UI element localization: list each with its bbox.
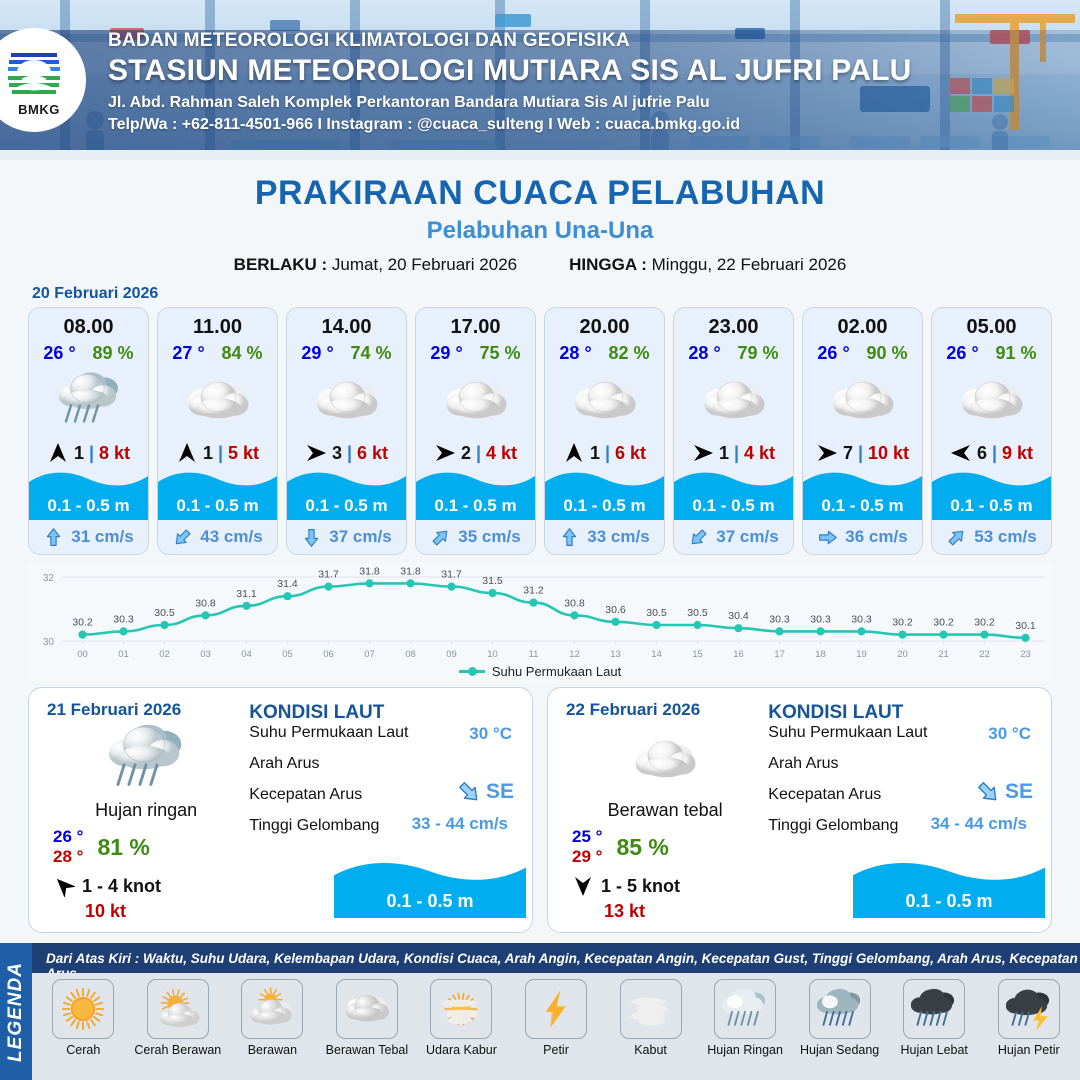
svg-text:30.1: 30.1 — [1015, 620, 1036, 632]
svg-text:30.6: 30.6 — [605, 604, 626, 616]
svg-text:03: 03 — [200, 649, 211, 660]
card-wind-row: 1|5 kt — [158, 438, 277, 468]
svg-text:30.3: 30.3 — [769, 613, 790, 625]
svg-text:31.8: 31.8 — [400, 565, 421, 577]
card-weather-icon — [287, 364, 406, 438]
card-temperature: 26 ° — [43, 343, 75, 364]
daily-temp-humidity: 26 °28 °81 % — [47, 827, 245, 867]
sst-label: Suhu Permukaan Laut — [768, 724, 927, 741]
legend-item: Cerah — [36, 979, 131, 1057]
card-wind-row: 1|6 kt — [545, 438, 664, 468]
card-wave-block: 0.1 - 0.5 m — [287, 468, 406, 520]
card-weather-icon — [674, 364, 793, 438]
chart-legend-label: Suhu Permukaan Laut — [492, 664, 621, 679]
svg-text:31.1: 31.1 — [236, 588, 257, 600]
daily-condition: Berawan tebal — [566, 800, 764, 821]
legend-item-icon-box — [336, 979, 398, 1039]
card-wave-block: 0.1 - 0.5 m — [674, 468, 793, 520]
daily-wind-range: 1 - 5 knot — [601, 876, 680, 897]
legend-body: Dari Atas Kiri : Waktu, Suhu Udara, Kele… — [32, 943, 1080, 1080]
svg-text:05: 05 — [282, 649, 293, 660]
lightning-icon — [533, 986, 579, 1032]
cloud-icon — [960, 378, 1024, 424]
svg-text:31.4: 31.4 — [277, 578, 298, 590]
svg-text:30.3: 30.3 — [810, 613, 831, 625]
card-separator: | — [858, 443, 863, 464]
svg-text:30.2: 30.2 — [892, 617, 913, 629]
legend-item-icon-box — [52, 979, 114, 1039]
hourly-forecast-row: 08.0026 °89 %1|8 kt0.1 - 0.5 m31 cm/s11.… — [0, 307, 1080, 555]
card-wave-height: 0.1 - 0.5 m — [29, 494, 148, 520]
card-wave-height: 0.1 - 0.5 m — [545, 494, 664, 520]
legend-item: Cerah Berawan — [131, 979, 226, 1057]
wave-shape — [158, 468, 277, 494]
current-speed-label: Kecepatan Arus — [249, 786, 362, 803]
daily-gust: 10 kt — [47, 901, 245, 922]
legend-item-label: Hujan Lebat — [900, 1043, 967, 1057]
svg-text:10: 10 — [487, 649, 498, 660]
card-current-row: 37 cm/s — [287, 520, 406, 554]
daily-wind-row: 1 - 4 knot — [47, 875, 245, 897]
legend-item: Kabut — [603, 979, 698, 1057]
card-current-speed: 37 cm/s — [716, 527, 778, 547]
hourly-card: 17.0029 °75 %2|4 kt0.1 - 0.5 m35 cm/s — [415, 307, 536, 555]
svg-text:23: 23 — [1020, 649, 1031, 660]
card-wave-height: 0.1 - 0.5 m — [287, 494, 406, 520]
card-humidity: 91 % — [996, 343, 1037, 364]
svg-text:32: 32 — [43, 573, 55, 584]
wind-direction-arrow-icon — [950, 442, 972, 464]
card-wind-row: 7|10 kt — [803, 438, 922, 468]
card-time: 02.00 — [803, 316, 922, 339]
wave-height-label: Tinggi Gelombang — [768, 817, 898, 834]
chart-legend: Suhu Permukaan Laut — [28, 664, 1052, 679]
card-wave-block: 0.1 - 0.5 m — [545, 468, 664, 520]
card-current-row: 35 cm/s — [416, 520, 535, 554]
svg-text:30.2: 30.2 — [933, 617, 954, 629]
fog-icon — [628, 986, 674, 1032]
wind-direction-arrow-icon — [563, 442, 585, 464]
wave-shape — [674, 468, 793, 494]
wind-direction-arrow-icon — [572, 875, 594, 897]
wave-shape — [545, 468, 664, 494]
card-wind-speed: 1 — [203, 443, 213, 464]
legend-item-icon-box — [620, 979, 682, 1039]
card-wind-row: 2|4 kt — [416, 438, 535, 468]
daily-wave-block: 0.1 - 0.5 m — [853, 857, 1045, 918]
wind-direction-arrow-icon — [176, 442, 198, 464]
card-gust: 10 kt — [868, 443, 909, 464]
wave-shape — [803, 468, 922, 494]
svg-text:30.3: 30.3 — [851, 613, 872, 625]
daily-temp-min: 26 ° — [53, 827, 83, 847]
card-temp-humidity: 26 °89 % — [29, 343, 148, 364]
daily-temp-col: 25 °29 ° — [572, 827, 602, 867]
wind-direction-arrow-icon — [53, 875, 75, 897]
current-direction-label: Arah Arus — [249, 755, 319, 772]
sst-chart: 3032000102030405060708091011121314151617… — [28, 563, 1052, 681]
daily-weather-icon — [47, 722, 245, 798]
card-weather-icon — [545, 364, 664, 438]
header-text-block: BADAN METEOROLOGI KLIMATOLOGI DAN GEOFIS… — [108, 30, 911, 134]
svg-text:11: 11 — [529, 649, 539, 660]
svg-text:20: 20 — [897, 649, 908, 660]
card-time: 05.00 — [932, 316, 1051, 339]
sea-conditions-header: KONDISI LAUT — [768, 702, 1037, 724]
card-weather-icon — [803, 364, 922, 438]
card-temp-humidity: 26 °90 % — [803, 343, 922, 364]
cloud-icon — [831, 378, 895, 424]
card-current-speed: 37 cm/s — [329, 527, 391, 547]
card-wave-block: 0.1 - 0.5 m — [29, 468, 148, 520]
cloud-icon — [573, 378, 637, 424]
card-time: 14.00 — [287, 316, 406, 339]
hourly-card: 11.0027 °84 %1|5 kt0.1 - 0.5 m43 cm/s — [157, 307, 278, 555]
hourly-card: 02.0026 °90 %7|10 kt0.1 - 0.5 m36 cm/s — [802, 307, 923, 555]
wave-shape — [416, 468, 535, 494]
card-wave-block: 0.1 - 0.5 m — [158, 468, 277, 520]
bmkg-logo-text: BMKG — [18, 102, 60, 117]
page-title-block: PRAKIRAAN CUACA PELABUHAN Pelabuhan Una-… — [0, 160, 1080, 275]
card-wave-block: 0.1 - 0.5 m — [932, 468, 1051, 520]
sst-label: Suhu Permukaan Laut — [249, 724, 408, 741]
legend-item-icon-box — [998, 979, 1060, 1039]
card-wind-speed: 1 — [719, 443, 729, 464]
card-gust: 4 kt — [744, 443, 775, 464]
svg-text:31.8: 31.8 — [359, 565, 380, 577]
legend-item-icon-box — [714, 979, 776, 1039]
daily-temp-max: 28 ° — [53, 847, 83, 867]
card-weather-icon — [416, 364, 535, 438]
card-gust: 9 kt — [1002, 443, 1033, 464]
rain-icon — [817, 986, 863, 1032]
current-speed-label: Kecepatan Arus — [768, 786, 881, 803]
cloud-icon — [315, 378, 379, 424]
card-wind-row: 6|9 kt — [932, 438, 1051, 468]
legend-item-icon-box — [525, 979, 587, 1039]
sst-chart-svg: 3032000102030405060708091011121314151617… — [28, 563, 1052, 663]
card-temp-humidity: 29 °74 % — [287, 343, 406, 364]
rain-icon — [722, 986, 768, 1032]
svg-text:30: 30 — [43, 637, 55, 648]
wave-shape — [334, 857, 526, 891]
bmkg-emblem-icon — [3, 43, 65, 101]
daily-sea-block: KONDISI LAUTSuhu Permukaan Laut30 °CArah… — [764, 688, 1051, 932]
card-current-row: 43 cm/s — [158, 520, 277, 554]
legend-item: Udara Kabur — [414, 979, 509, 1057]
card-temperature: 28 ° — [688, 343, 720, 364]
current-direction-arrow-icon — [430, 527, 451, 548]
daily-weather-icon — [566, 722, 764, 798]
card-current-row: 53 cm/s — [932, 520, 1051, 554]
svg-text:04: 04 — [241, 649, 252, 660]
legend-item-icon-box — [147, 979, 209, 1039]
light-rain-icon — [107, 723, 185, 797]
current-direction-arrow-icon — [43, 527, 64, 548]
svg-text:22: 22 — [979, 649, 990, 660]
daily-forecast-panel: 21 Februari 2026Hujan ringan26 °28 °81 %… — [28, 687, 533, 933]
hourly-card: 05.0026 °91 %6|9 kt0.1 - 0.5 m53 cm/s — [931, 307, 1052, 555]
svg-text:30.8: 30.8 — [195, 597, 216, 609]
daily-wave-height: 0.1 - 0.5 m — [334, 891, 526, 918]
card-current-speed: 53 cm/s — [974, 527, 1036, 547]
card-time: 23.00 — [674, 316, 793, 339]
legend-strip: LEGENDA — [0, 943, 32, 1080]
daily-wave-height: 0.1 - 0.5 m — [853, 891, 1045, 918]
daily-forecast-row: 21 Februari 2026Hujan ringan26 °28 °81 %… — [0, 681, 1080, 933]
svg-text:30.2: 30.2 — [974, 617, 995, 629]
card-gust: 6 kt — [357, 443, 388, 464]
card-weather-icon — [158, 364, 277, 438]
svg-text:30.5: 30.5 — [154, 607, 175, 619]
daily-date: 22 Februari 2026 — [566, 700, 764, 720]
daily-gust: 13 kt — [566, 901, 764, 922]
legend-item-label: Hujan Petir — [998, 1043, 1060, 1057]
card-wind-speed: 2 — [461, 443, 471, 464]
cloud-icon — [702, 378, 766, 424]
hourly-card: 08.0026 °89 %1|8 kt0.1 - 0.5 m31 cm/s — [28, 307, 149, 555]
current-speed-row: Kecepatan Arus34 - 44 cm/s — [768, 786, 1037, 817]
card-separator: | — [734, 443, 739, 464]
card-current-speed: 36 cm/s — [845, 527, 907, 547]
sst-row: Suhu Permukaan Laut30 °C — [768, 724, 1037, 755]
svg-text:30.3: 30.3 — [113, 613, 134, 625]
card-time: 11.00 — [158, 316, 277, 339]
cloud-icon — [444, 378, 508, 424]
daily-left: 21 Februari 2026Hujan ringan26 °28 °81 %… — [29, 688, 245, 932]
card-wave-height: 0.1 - 0.5 m — [158, 494, 277, 520]
card-gust: 6 kt — [615, 443, 646, 464]
card-separator: | — [347, 443, 352, 464]
card-separator: | — [476, 443, 481, 464]
card-temp-humidity: 28 °82 % — [545, 343, 664, 364]
haze-sun-icon — [438, 986, 484, 1032]
card-temp-humidity: 29 °75 % — [416, 343, 535, 364]
legend-item-label: Kabut — [634, 1043, 667, 1057]
legend-strip-label: LEGENDA — [5, 962, 27, 1062]
card-gust: 5 kt — [228, 443, 259, 464]
legend-item-label: Berawan Tebal — [326, 1043, 408, 1057]
hingga-group: HINGGA : Minggu, 22 Februari 2026 — [569, 255, 846, 275]
current-direction-row: Arah ArusSE — [249, 755, 518, 786]
card-wind-row: 3|6 kt — [287, 438, 406, 468]
svg-text:06: 06 — [323, 649, 334, 660]
card-gust: 4 kt — [486, 443, 517, 464]
legend-item: Petir — [509, 979, 604, 1057]
card-weather-icon — [932, 364, 1051, 438]
validity-row: BERLAKU : Jumat, 20 Februari 2026 HINGGA… — [0, 255, 1080, 275]
wave-shape — [29, 468, 148, 494]
card-current-speed: 31 cm/s — [71, 527, 133, 547]
daily-sea-block: KONDISI LAUTSuhu Permukaan Laut30 °CArah… — [245, 688, 532, 932]
wave-shape — [932, 468, 1051, 494]
station-address: Jl. Abd. Rahman Saleh Komplek Perkantora… — [108, 94, 911, 112]
daily-wave-block: 0.1 - 0.5 m — [334, 857, 526, 918]
svg-text:19: 19 — [856, 649, 867, 660]
card-wind-speed: 1 — [74, 443, 84, 464]
svg-text:31.7: 31.7 — [318, 569, 339, 581]
card-temperature: 26 ° — [817, 343, 849, 364]
legend-items-row: CerahCerah BerawanBerawanBerawan TebalUd… — [32, 973, 1080, 1080]
current-direction-arrow-icon — [688, 527, 709, 548]
svg-text:31.2: 31.2 — [523, 585, 544, 597]
daily-left: 22 Februari 2026Berawan tebal25 °29 °85 … — [548, 688, 764, 932]
card-temperature: 26 ° — [946, 343, 978, 364]
daily-wind-range: 1 - 4 knot — [82, 876, 161, 897]
card-separator: | — [218, 443, 223, 464]
svg-text:08: 08 — [405, 649, 416, 660]
svg-text:21: 21 — [938, 649, 949, 660]
legend-item-label: Hujan Sedang — [800, 1043, 879, 1057]
card-current-speed: 35 cm/s — [458, 527, 520, 547]
card-current-speed: 43 cm/s — [200, 527, 262, 547]
svg-text:30.5: 30.5 — [687, 607, 708, 619]
wind-direction-arrow-icon — [816, 442, 838, 464]
sun-cloud-icon — [155, 986, 201, 1032]
card-humidity: 74 % — [351, 343, 392, 364]
wind-direction-arrow-icon — [692, 442, 714, 464]
legend-item-icon-box — [809, 979, 871, 1039]
daily-temp-col: 26 °28 ° — [53, 827, 83, 867]
wind-direction-arrow-icon — [434, 442, 456, 464]
svg-text:18: 18 — [815, 649, 826, 660]
legend-item: Hujan Petir — [981, 979, 1076, 1057]
daily-humidity: 81 % — [97, 834, 149, 861]
thunderstorm-icon — [1006, 986, 1052, 1032]
wave-shape — [287, 468, 406, 494]
card-humidity: 89 % — [93, 343, 134, 364]
wave-height-row: Tinggi Gelombang — [768, 817, 1037, 848]
sst-value: 30 °C — [988, 724, 1031, 744]
hourly-card: 20.0028 °82 %1|6 kt0.1 - 0.5 m33 cm/s — [544, 307, 665, 555]
page-subtitle: Pelabuhan Una-Una — [0, 217, 1080, 245]
card-wave-height: 0.1 - 0.5 m — [674, 494, 793, 520]
svg-text:15: 15 — [692, 649, 703, 660]
legend-item-label: Hujan Ringan — [707, 1043, 783, 1057]
legend-item: Hujan Sedang — [792, 979, 887, 1057]
wave-height-row: Tinggi Gelombang — [249, 817, 518, 848]
card-current-speed: 33 cm/s — [587, 527, 649, 547]
svg-text:30.8: 30.8 — [564, 597, 585, 609]
card-humidity: 79 % — [738, 343, 779, 364]
svg-text:13: 13 — [610, 649, 621, 660]
page-header: BMKG BADAN METEOROLOGI KLIMATOLOGI DAN G… — [0, 0, 1080, 160]
rain-icon — [911, 986, 957, 1032]
legend-item-icon-box — [241, 979, 303, 1039]
current-direction-arrow-icon — [301, 527, 322, 548]
light-rain-icon — [57, 371, 121, 432]
card-humidity: 90 % — [867, 343, 908, 364]
sst-value: 30 °C — [469, 724, 512, 744]
wave-shape — [853, 857, 1045, 891]
card-wind-speed: 7 — [843, 443, 853, 464]
hourly-date-label: 20 Februari 2026 — [32, 285, 1080, 303]
station-contact: Telp/Wa : +62-811-4501-966 I Instagram :… — [108, 116, 911, 134]
hourly-card: 23.0028 °79 %1|4 kt0.1 - 0.5 m37 cm/s — [673, 307, 794, 555]
berlaku-label: BERLAKU : — [234, 255, 328, 274]
svg-text:09: 09 — [446, 649, 457, 660]
daily-wind-row: 1 - 5 knot — [566, 875, 764, 897]
svg-text:17: 17 — [774, 649, 785, 660]
daily-forecast-panel: 22 Februari 2026Berawan tebal25 °29 °85 … — [547, 687, 1052, 933]
legend-item-label: Udara Kabur — [426, 1043, 497, 1057]
legend-item: Hujan Lebat — [887, 979, 982, 1057]
card-wind-row: 1|8 kt — [29, 438, 148, 468]
card-temperature: 28 ° — [559, 343, 591, 364]
legend-item-label: Cerah — [66, 1043, 100, 1057]
daily-date: 21 Februari 2026 — [47, 700, 245, 720]
daily-temp-humidity: 25 °29 °85 % — [566, 827, 764, 867]
daily-temp-max: 29 ° — [572, 847, 602, 867]
svg-text:16: 16 — [733, 649, 744, 660]
daily-condition: Hujan ringan — [47, 800, 245, 821]
card-humidity: 84 % — [222, 343, 263, 364]
card-temperature: 29 ° — [430, 343, 462, 364]
station-name: STASIUN METEOROLOGI MUTIARA SIS AL JUFRI… — [108, 54, 911, 88]
cloud-sun-icon — [249, 986, 295, 1032]
svg-text:30.2: 30.2 — [72, 617, 93, 629]
sea-conditions-header: KONDISI LAUT — [249, 702, 518, 724]
wind-direction-arrow-icon — [305, 442, 327, 464]
card-wave-height: 0.1 - 0.5 m — [932, 494, 1051, 520]
svg-text:07: 07 — [364, 649, 375, 660]
legend-item-icon-box — [430, 979, 492, 1039]
svg-text:02: 02 — [159, 649, 170, 660]
card-wave-height: 0.1 - 0.5 m — [416, 494, 535, 520]
card-current-row: 37 cm/s — [674, 520, 793, 554]
card-wind-speed: 1 — [590, 443, 600, 464]
card-wave-block: 0.1 - 0.5 m — [416, 468, 535, 520]
card-wave-block: 0.1 - 0.5 m — [803, 468, 922, 520]
card-time: 17.00 — [416, 316, 535, 339]
card-temperature: 27 ° — [172, 343, 204, 364]
card-weather-icon — [29, 364, 148, 438]
hingga-label: HINGGA : — [569, 255, 647, 274]
current-speed-row: Kecepatan Arus33 - 44 cm/s — [249, 786, 518, 817]
daily-humidity: 85 % — [616, 834, 668, 861]
svg-text:30.5: 30.5 — [646, 607, 667, 619]
card-wind-speed: 3 — [332, 443, 342, 464]
card-humidity: 75 % — [480, 343, 521, 364]
wave-height-label: Tinggi Gelombang — [249, 817, 379, 834]
svg-text:01: 01 — [118, 649, 129, 660]
berlaku-group: BERLAKU : Jumat, 20 Februari 2026 — [234, 255, 517, 275]
svg-text:12: 12 — [569, 649, 580, 660]
card-current-row: 31 cm/s — [29, 520, 148, 554]
hourly-card: 14.0029 °74 %3|6 kt0.1 - 0.5 m37 cm/s — [286, 307, 407, 555]
clouds-icon — [344, 986, 390, 1032]
card-separator: | — [605, 443, 610, 464]
legend-section: LEGENDA Dari Atas Kiri : Waktu, Suhu Uda… — [0, 943, 1080, 1080]
wind-direction-arrow-icon — [47, 442, 69, 464]
card-separator: | — [992, 443, 997, 464]
legend-item-icon-box — [903, 979, 965, 1039]
card-wind-row: 1|4 kt — [674, 438, 793, 468]
cloud-icon — [633, 737, 697, 783]
legend-item-label: Berawan — [248, 1043, 297, 1057]
current-direction-arrow-icon — [946, 527, 967, 548]
berlaku-value: Jumat, 20 Februari 2026 — [332, 255, 517, 274]
card-time: 08.00 — [29, 316, 148, 339]
card-temp-humidity: 28 °79 % — [674, 343, 793, 364]
sst-row: Suhu Permukaan Laut30 °C — [249, 724, 518, 755]
current-direction-label: Arah Arus — [768, 755, 838, 772]
legend-item: Hujan Ringan — [698, 979, 793, 1057]
hingga-value: Minggu, 22 Februari 2026 — [652, 255, 847, 274]
cloud-icon — [186, 378, 250, 424]
current-direction-arrow-icon — [559, 527, 580, 548]
svg-text:14: 14 — [651, 649, 662, 660]
